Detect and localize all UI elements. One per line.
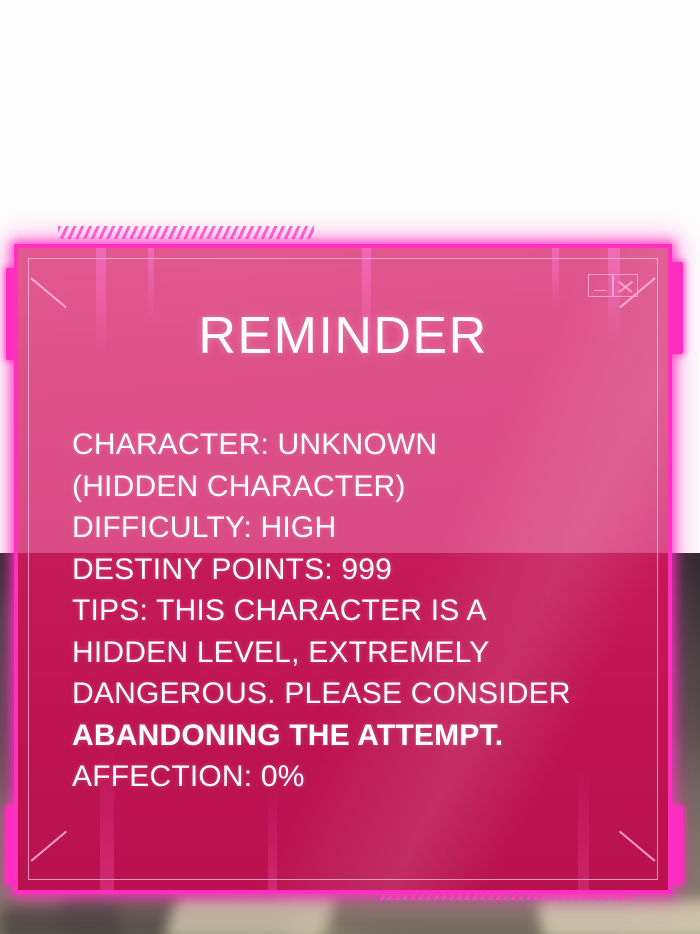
hatch-stripe-top (58, 226, 314, 239)
dialog-detail-line: (HIDDEN CHARACTER) (72, 466, 642, 508)
dialog-detail-line: TIPS: THIS CHARACTER IS A (72, 590, 642, 632)
dialog-detail-list: CHARACTER: UNKNOWN(HIDDEN CHARACTER)DIFF… (72, 424, 642, 798)
window-controls (588, 274, 638, 297)
dialog-detail-line: HIDDEN LEVEL, EXTREMELY (72, 632, 642, 674)
reminder-dialog: REMINDER CHARACTER: UNKNOWN(HIDDEN CHARA… (14, 244, 672, 894)
dialog-detail-line: ABANDONING THE ATTEMPT. (72, 715, 642, 757)
dialog-detail-line: CHARACTER: UNKNOWN (72, 424, 642, 466)
page-title: REMINDER (18, 310, 668, 362)
dialog-detail-line: DIFFICULTY: HIGH (72, 507, 642, 549)
background-shape-b (163, 895, 336, 934)
dialog-detail-line: DANGEROUS. PLEASE CONSIDER (72, 673, 642, 715)
minimize-icon[interactable] (588, 274, 613, 297)
background-shape-d (537, 900, 700, 934)
background-shape-e (0, 905, 120, 934)
dialog-detail-line: DESTINY POINTS: 999 (72, 549, 642, 591)
close-icon[interactable] (613, 274, 638, 297)
dialog-detail-line: AFFECTION: 0% (72, 756, 642, 798)
dialog-content: REMINDER CHARACTER: UNKNOWN(HIDDEN CHARA… (18, 248, 668, 890)
